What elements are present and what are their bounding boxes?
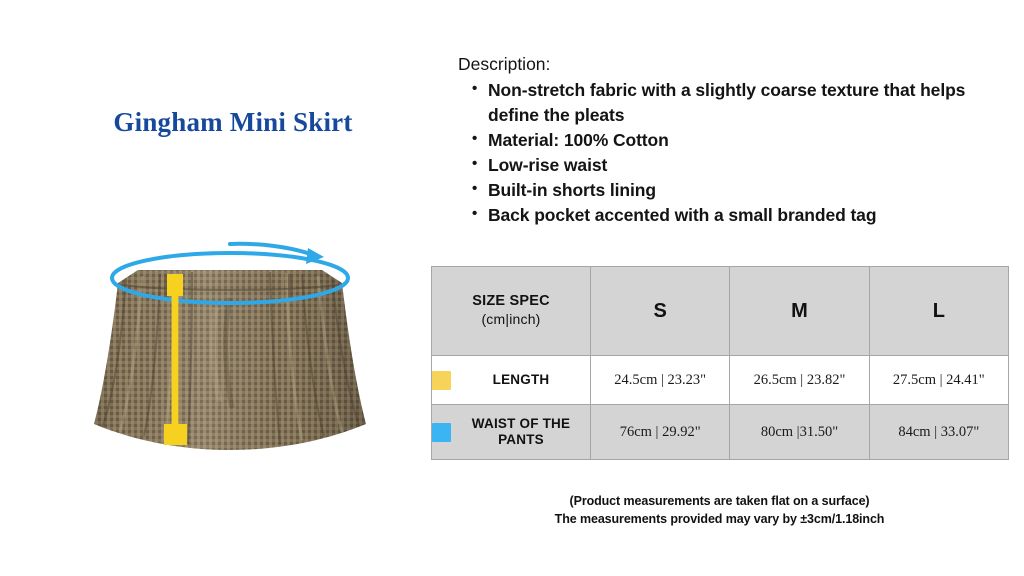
description-item-text: Non-stretch fabric with a slightly coars… [488, 80, 965, 125]
description-item: • Built-in shorts lining [458, 178, 998, 203]
header-cell-size-l: L [869, 267, 1008, 356]
description-list: • Non-stretch fabric with a slightly coa… [458, 78, 998, 227]
description-item: • Low-rise waist [458, 153, 998, 178]
description-item: • Material: 100% Cotton [458, 128, 998, 153]
table-header-row: SIZE SPEC (cm|inch) S M L [432, 267, 1009, 356]
cell-waist-m: 80cm |31.50" [730, 405, 869, 460]
cell-length-m: 26.5cm | 23.82" [730, 356, 869, 405]
measurement-footnote: (Product measurements are taken flat on … [431, 492, 1008, 528]
product-spec-page: Gingham Mini Skirt [0, 0, 1024, 576]
cell-waist-l: 84cm | 33.07" [869, 405, 1008, 460]
header-cell-size-s: S [591, 267, 730, 356]
cell-length-s: 24.5cm | 23.23" [591, 356, 730, 405]
description-item-text: Low-rise waist [488, 155, 607, 175]
description-block: Description: • Non-stretch fabric with a… [458, 52, 998, 227]
description-item: • Back pocket accented with a small bran… [458, 203, 998, 228]
spec-label: SIZE SPEC [472, 293, 550, 309]
footnote-line-2: The measurements provided may vary by ±3… [431, 510, 1008, 528]
description-item: • Non-stretch fabric with a slightly coa… [458, 78, 998, 128]
bullet-icon: • [472, 178, 477, 199]
skirt-illustration [80, 238, 380, 473]
row-label-length: LENGTH [432, 356, 591, 405]
table-row: LENGTH 24.5cm | 23.23" 26.5cm | 23.82" 2… [432, 356, 1009, 405]
header-cell-spec: SIZE SPEC (cm|inch) [432, 267, 591, 356]
size-spec-table: SIZE SPEC (cm|inch) S M L [431, 266, 1009, 460]
header-cell-size-m: M [730, 267, 869, 356]
page-title: Gingham Mini Skirt [88, 107, 378, 138]
cell-length-l: 27.5cm | 24.41" [869, 356, 1008, 405]
waist-color-swatch-icon [432, 423, 451, 442]
cell-waist-s: 76cm | 29.92" [591, 405, 730, 460]
description-item-text: Material: 100% Cotton [488, 130, 669, 150]
bullet-icon: • [472, 203, 477, 224]
footnote-line-1: (Product measurements are taken flat on … [431, 492, 1008, 510]
product-image [80, 238, 380, 473]
table-row: WAIST OF THE PANTS 76cm | 29.92" 80cm |3… [432, 405, 1009, 460]
bullet-icon: • [472, 78, 477, 99]
description-item-text: Built-in shorts lining [488, 180, 656, 200]
description-heading: Description: [458, 52, 998, 77]
skirt-body [80, 238, 380, 473]
spec-units: (cm|inch) [481, 311, 540, 327]
row-label-waist: WAIST OF THE PANTS [432, 405, 591, 460]
bullet-icon: • [472, 128, 477, 149]
description-item-text: Back pocket accented with a small brande… [488, 205, 876, 225]
length-color-swatch-icon [432, 371, 451, 390]
bullet-icon: • [472, 153, 477, 174]
